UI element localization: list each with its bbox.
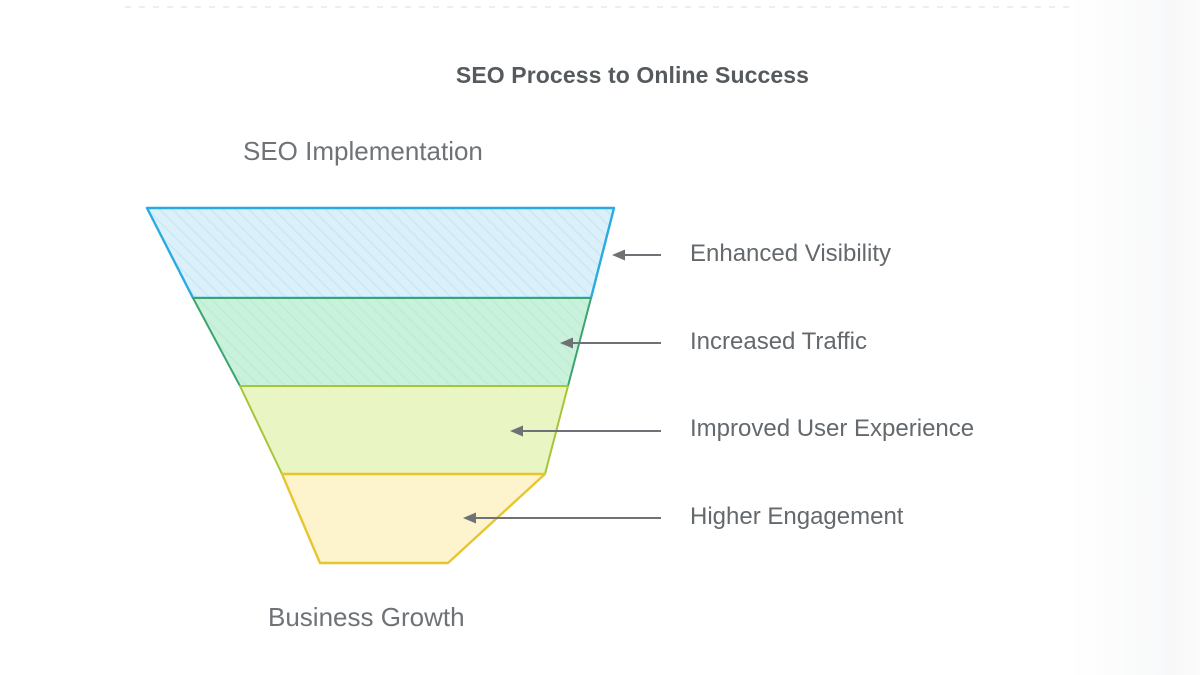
- funnel-stage-label-enhanced-visibility: Enhanced Visibility: [690, 240, 891, 268]
- funnel-stage-label-higher-engagement: Higher Engagement: [690, 503, 903, 531]
- funnel-bottom-label: Business Growth: [268, 602, 465, 633]
- funnel-diagram-canvas: SEO Process to Online Success SEO Implem…: [0, 0, 1200, 675]
- funnel-stage-label-improved-user-experience: Improved User Experience: [690, 415, 974, 443]
- funnel-segment-increased-traffic[interactable]: [193, 298, 591, 386]
- connector-arrow-head-0: [612, 250, 625, 261]
- funnel-graphic: [0, 0, 1200, 675]
- funnel-segment-enhanced-visibility[interactable]: [147, 208, 614, 298]
- funnel-stage-label-increased-traffic: Increased Traffic: [690, 328, 867, 356]
